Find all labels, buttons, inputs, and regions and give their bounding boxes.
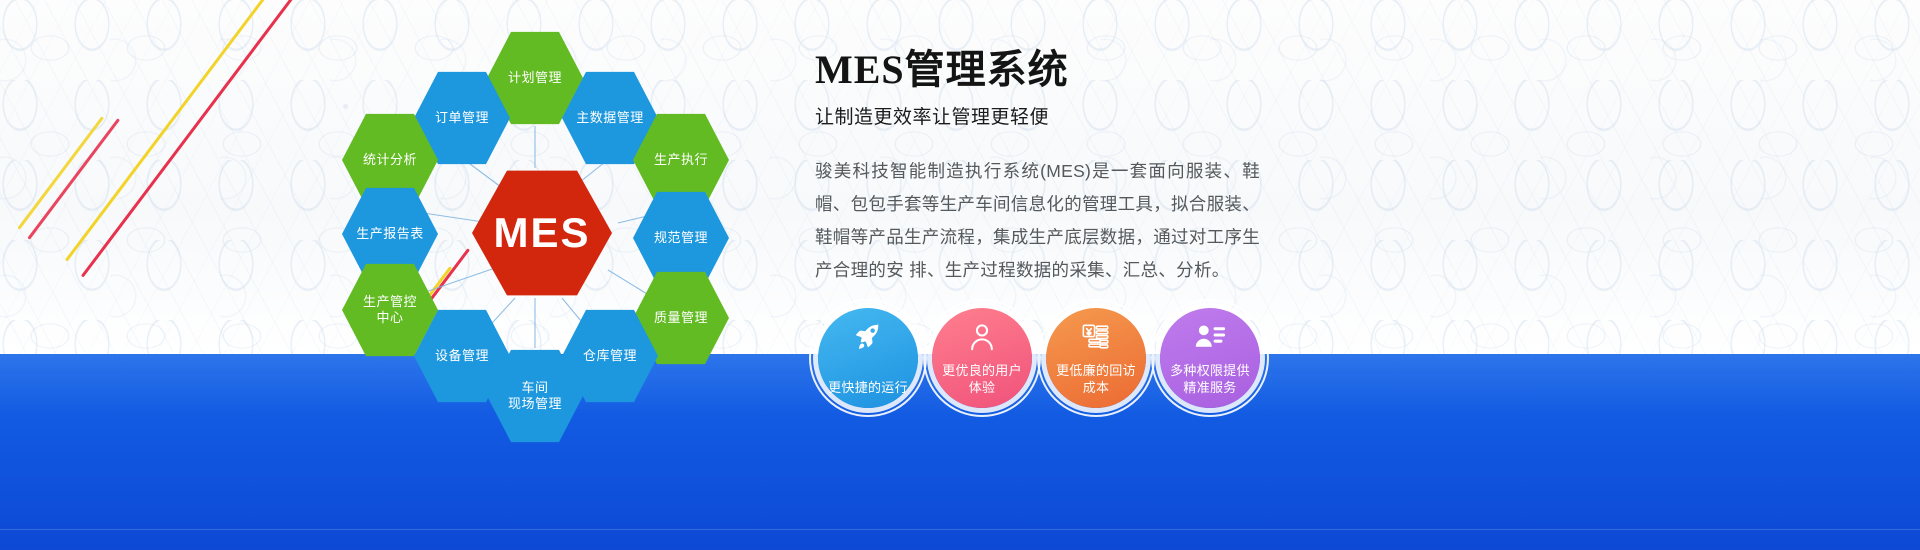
feature-badges: 更快捷的运行 更优良的用户体验 [818, 308, 1260, 408]
badge-label: 更优良的用户体验 [934, 362, 1030, 408]
hex-label: 订单管理 [429, 110, 495, 126]
badge-better-user-experience[interactable]: 更优良的用户体验 [932, 308, 1032, 408]
hex-label: 车间现场管理 [502, 380, 568, 413]
hex-label: 计划管理 [502, 70, 568, 86]
hex-label: 主数据管理 [570, 110, 650, 126]
bottom-band-divider [0, 529, 1920, 530]
page-title: MES管理系统 [815, 48, 1535, 92]
user-icon [932, 320, 1032, 354]
user-list-icon [1160, 320, 1260, 354]
mes-hex-diagram: MES 计划管理 订单管理 主数据管理 统计分析 生产执行 生产报告表 规范管理… [330, 8, 800, 438]
page-description: 骏美科技智能制造执行系统(MES)是一套面向服装、鞋帽、包包手套等生产车间信息化… [815, 155, 1260, 287]
hex-label: 生产管控中心 [357, 294, 423, 327]
badge-label: 更快捷的运行 [820, 379, 916, 408]
badge-faster-operation[interactable]: 更快捷的运行 [818, 308, 918, 408]
hex-label: 仓库管理 [577, 348, 643, 364]
hex-label: 设备管理 [429, 348, 495, 364]
page-subtitle: 让制造更效率让管理更轻便 [815, 102, 1535, 129]
badge-label: 更低廉的回访成本 [1048, 362, 1144, 408]
hex-label: 统计分析 [357, 152, 423, 168]
mes-banner: MES 计划管理 订单管理 主数据管理 统计分析 生产执行 生产报告表 规范管理… [0, 0, 1920, 550]
hex-center-label: MES [487, 207, 596, 260]
badge-lower-revisit-cost[interactable]: 更低廉的回访成本 [1046, 308, 1146, 408]
rocket-icon [818, 320, 918, 354]
hex-label: 生产执行 [648, 152, 714, 168]
badge-multi-permission-service[interactable]: 多种权限提供精准服务 [1160, 308, 1260, 408]
badge-label: 多种权限提供精准服务 [1162, 362, 1258, 408]
hex-label: 生产报告表 [350, 226, 430, 242]
coins-icon [1046, 320, 1146, 354]
hex-label: 规范管理 [648, 230, 714, 246]
hex-label: 质量管理 [648, 310, 714, 326]
banner-copy: MES管理系统 让制造更效率让管理更轻便 骏美科技智能制造执行系统(MES)是一… [815, 48, 1535, 287]
